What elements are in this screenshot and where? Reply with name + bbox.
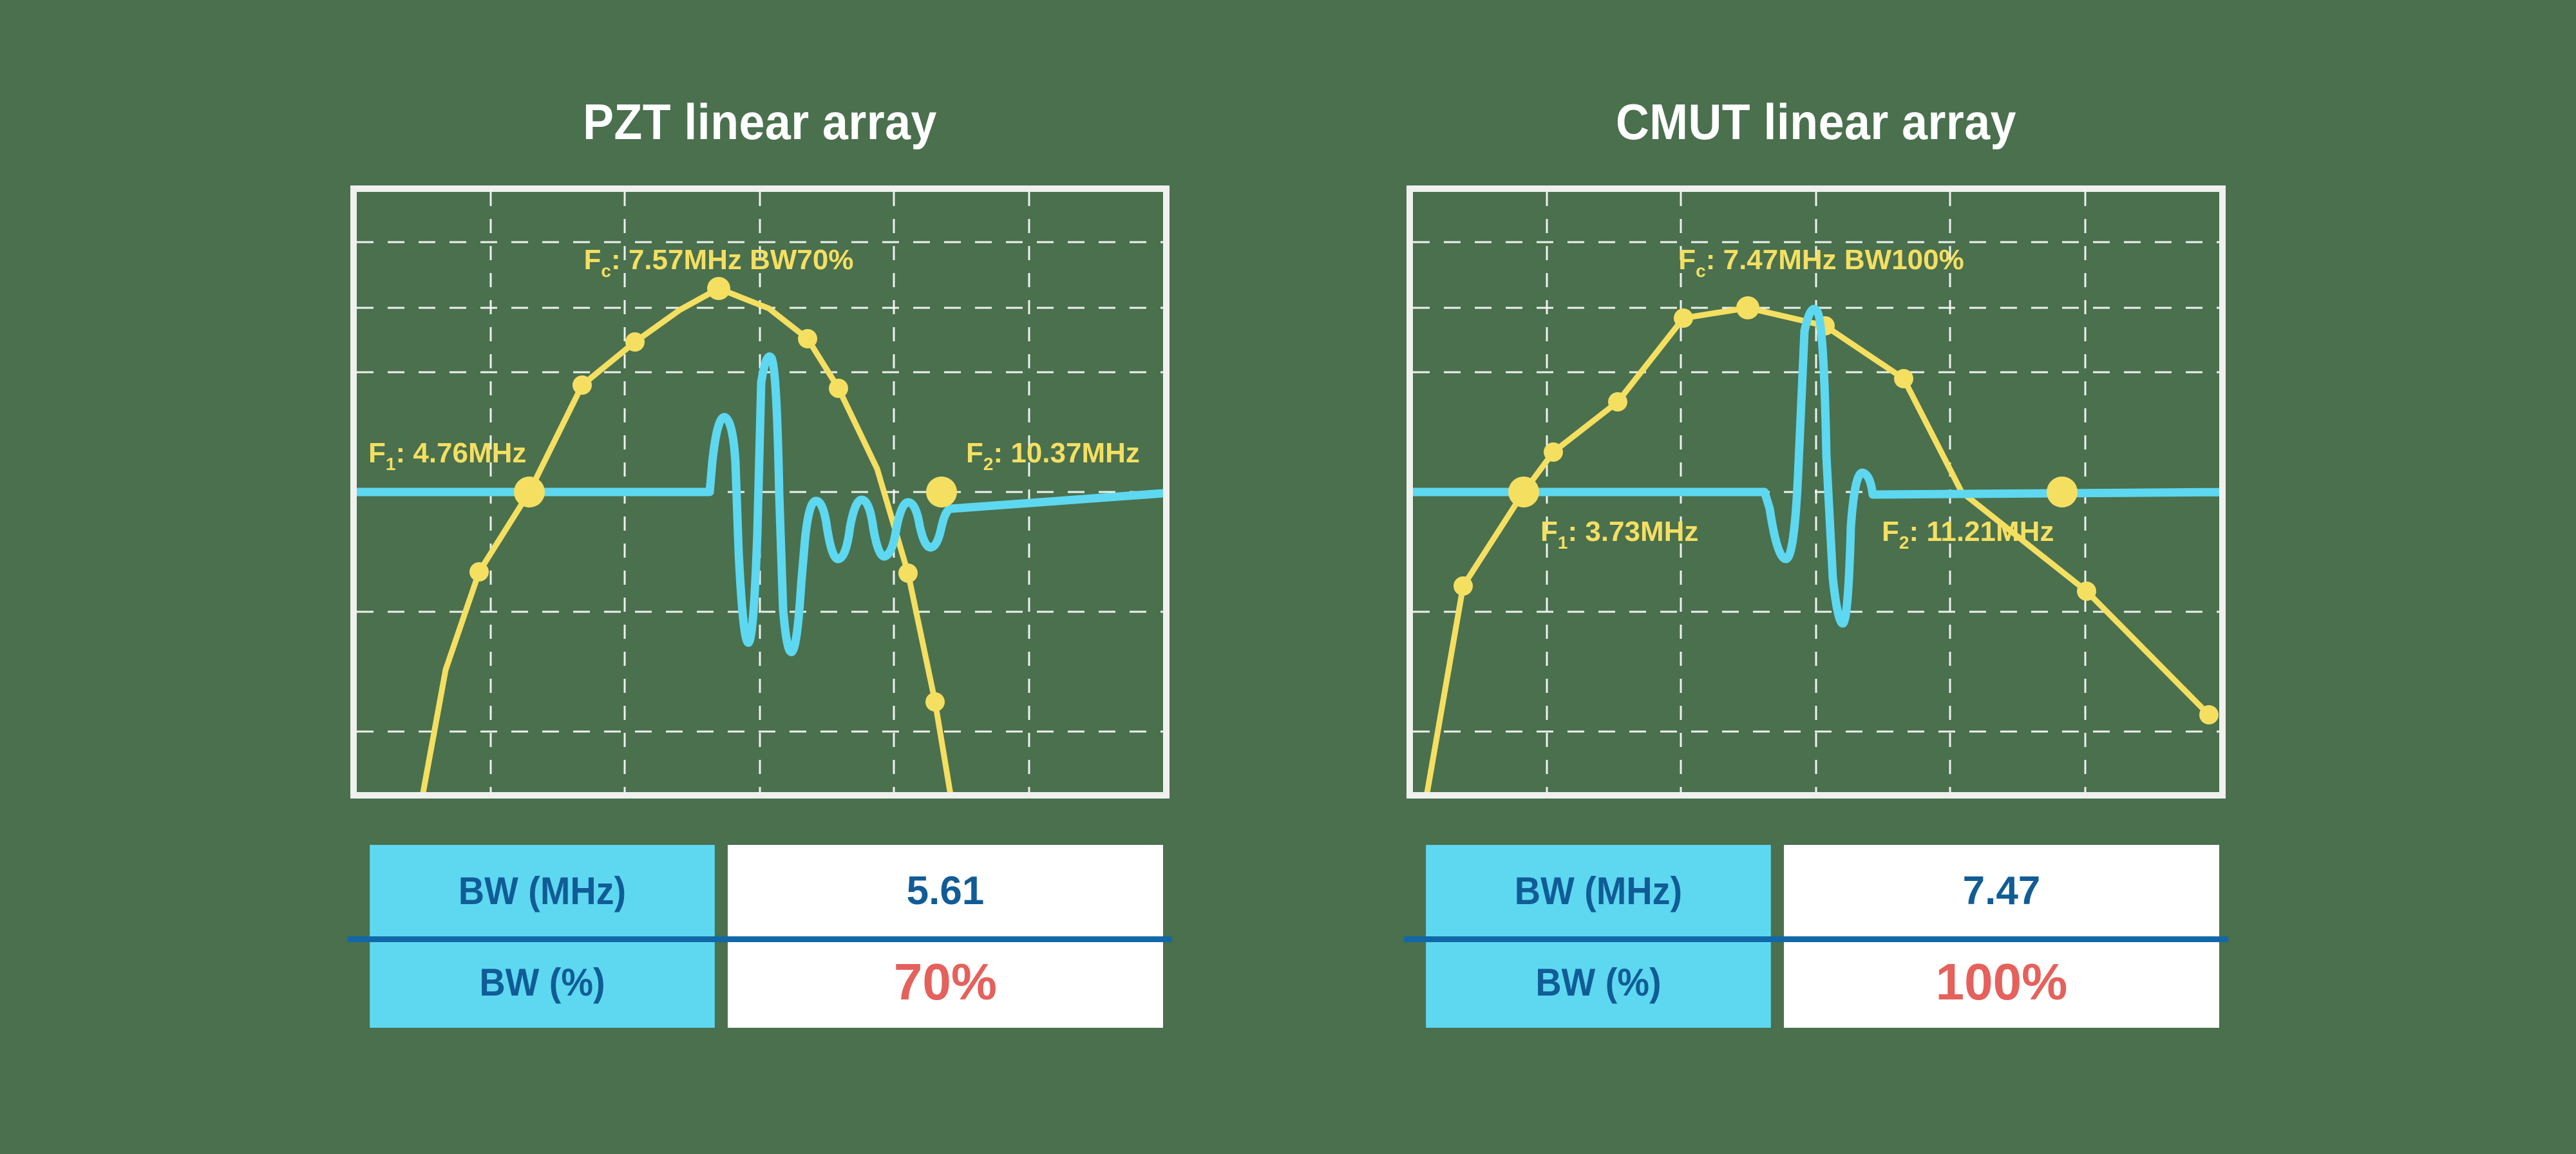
f2-marker-cmut	[2047, 477, 2078, 507]
f1-label-cmut: F1: 3.73MHz	[1540, 516, 1698, 553]
f1-marker-cmut	[1508, 477, 1539, 507]
panel-cmut: CMUT linear array	[1288, 0, 2344, 1028]
table-row-divider-cmut	[1404, 936, 2228, 942]
comparison-figure: PZT linear array	[0, 0, 2576, 1154]
bw-mhz-value-cmut: 7.47	[1784, 845, 2219, 936]
plot-svg-cmut: Fc: 7.47MHz BW100% F1: 3.73MHz F2: 11.21…	[1413, 192, 2219, 792]
bw-pct-value-cmut: 100%	[1784, 936, 2219, 1028]
bw-table-wrap-cmut: BW (MHz) 7.47 BW (%) 100%	[1413, 845, 2219, 1028]
panel-title-cmut: CMUT linear array	[1331, 97, 2302, 147]
fc-label-cmut: Fc: 7.47MHz BW100%	[1678, 244, 1964, 281]
table-row-divider-pzt	[348, 936, 1172, 942]
f1-marker-pzt	[514, 477, 545, 507]
bw-mhz-label-pzt: BW (MHz)	[370, 845, 715, 936]
panel-title-pzt: PZT linear array	[274, 97, 1246, 147]
f1-label-pzt: F1: 4.76MHz	[368, 437, 526, 474]
bw-mhz-label-cmut: BW (MHz)	[1426, 845, 1771, 936]
table-row: BW (MHz) 5.61	[357, 845, 1163, 936]
panel-pzt: PZT linear array	[232, 0, 1288, 1028]
bw-mhz-value-pzt: 5.61	[728, 845, 1163, 936]
plot-frame-cmut: Fc: 7.47MHz BW100% F1: 3.73MHz F2: 11.21…	[1406, 185, 2226, 799]
f2-marker-pzt	[926, 477, 957, 507]
fc-label-pzt: Fc: 7.57MHz BW70%	[583, 244, 853, 281]
table-row: BW (%) 100%	[1413, 936, 2219, 1028]
plot-svg-pzt: Fc: 7.57MHz BW70% F1: 4.76MHz F2: 10.37M…	[357, 192, 1163, 792]
f2-label-pzt: F2: 10.37MHz	[966, 437, 1140, 474]
spectrum-markers-cmut	[1454, 296, 2219, 724]
table-row: BW (%) 70%	[357, 936, 1163, 1028]
plot-frame-pzt: Fc: 7.57MHz BW70% F1: 4.76MHz F2: 10.37M…	[350, 185, 1170, 799]
bw-pct-label-cmut: BW (%)	[1426, 936, 1771, 1028]
f2-label-cmut: F2: 11.21MHz	[1882, 516, 2054, 553]
bw-pct-label-pzt: BW (%)	[370, 936, 715, 1028]
bw-pct-value-pzt: 70%	[728, 936, 1163, 1028]
bw-table-wrap-pzt: BW (MHz) 5.61 BW (%) 70%	[357, 845, 1163, 1028]
table-row: BW (MHz) 7.47	[1413, 845, 2219, 936]
